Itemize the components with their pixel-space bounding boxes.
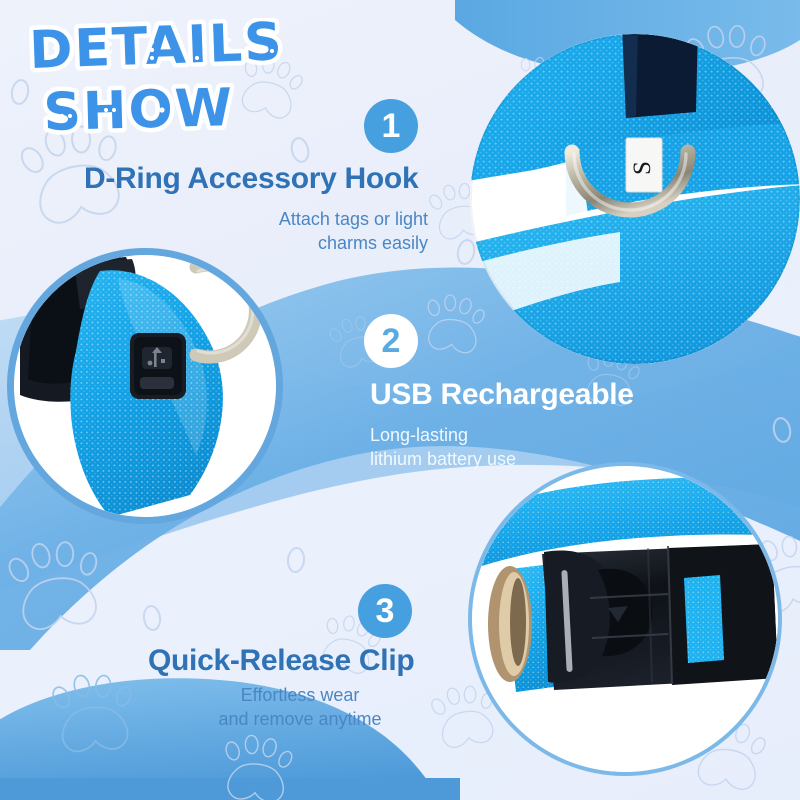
size-tag: S [626, 138, 662, 192]
feature-1-subtitle-line-1: Attach tags or light [118, 208, 428, 232]
feature-1-number: 1 [382, 109, 401, 143]
feature-3-number-badge: 3 [358, 584, 412, 638]
feature-2-number-badge: 2 [364, 314, 418, 368]
feature-3-photo [472, 466, 778, 772]
feature-2-title: USB Rechargeable [370, 378, 634, 412]
feature-3-number: 3 [376, 594, 395, 628]
feature-3-title: Quick-Release Clip [148, 644, 414, 678]
headline-line-2: SHOW [43, 78, 235, 143]
feature-3-subtitle: Effortless wear and remove anytime [150, 684, 450, 732]
page-title: .hl { font-family: "DejaVu Sans", sans-s… [24, 18, 354, 163]
feature-3-subtitle-line-1: Effortless wear [150, 684, 450, 708]
feature-3-subtitle-line-2: and remove anytime [150, 708, 450, 732]
feature-2-subtitle-line-1: Long-lasting [370, 424, 670, 448]
feature-2-photo [14, 255, 276, 517]
headline-line-1: DETAILS [28, 18, 284, 81]
feature-1-title: D-Ring Accessory Hook [84, 162, 418, 196]
feature-1-number-badge: 1 [364, 99, 418, 153]
size-tag-label: S [629, 161, 656, 175]
quick-release-buckle-closeup-image [472, 466, 778, 772]
details-show-infographic: .hl { font-family: "DejaVu Sans", sans-s… [0, 0, 800, 800]
feature-1-subtitle-line-2: charms easily [118, 232, 428, 256]
feature-1-photo: S [470, 34, 800, 364]
d-ring-closeup-image: S [470, 34, 800, 364]
feature-1-subtitle: Attach tags or light charms easily [118, 208, 428, 256]
feature-2-subtitle: Long-lasting lithium battery use [370, 424, 670, 472]
usb-port-closeup-image [14, 255, 276, 517]
feature-2-number: 2 [382, 324, 401, 358]
